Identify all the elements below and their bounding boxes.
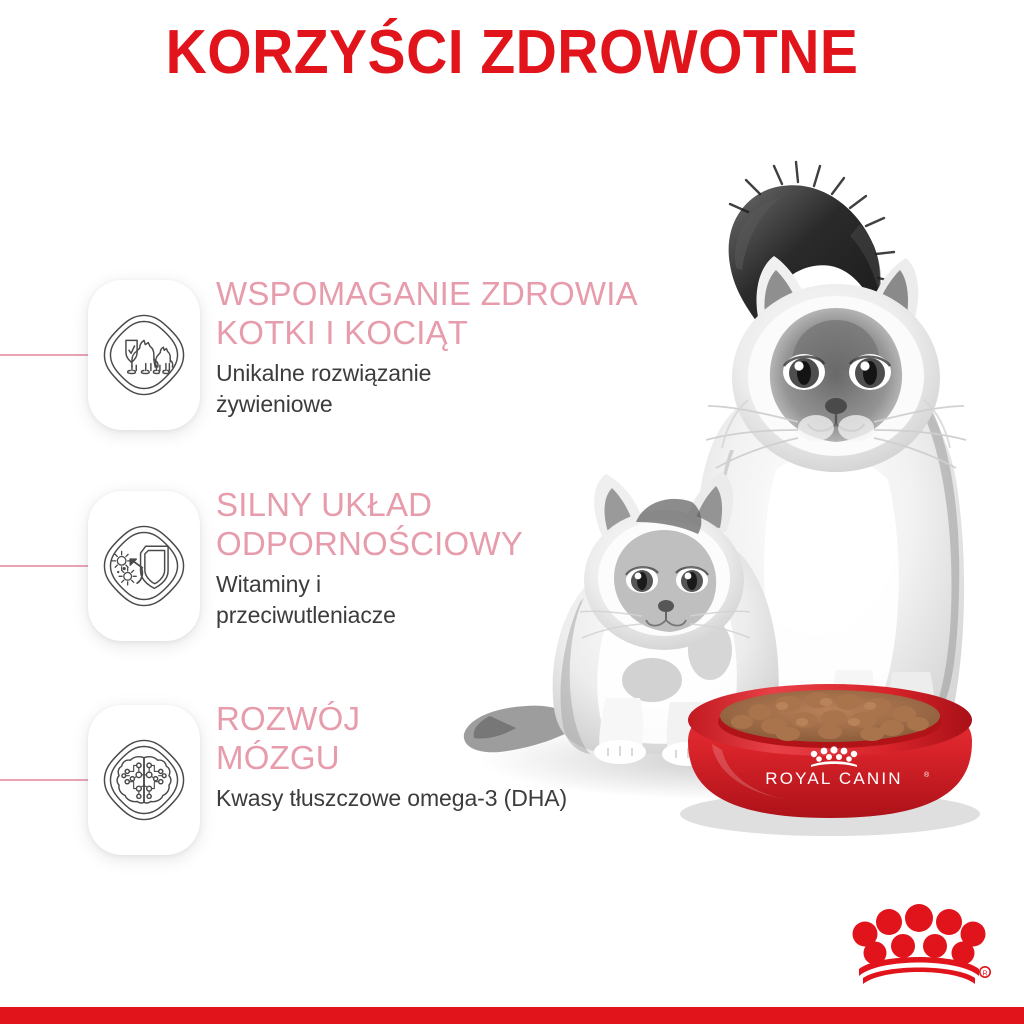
brain-circuit-icon <box>101 737 187 823</box>
svg-text:ROYAL CANIN: ROYAL CANIN <box>765 769 903 788</box>
connector-line <box>0 354 95 356</box>
benefit-text-block: SILNY UKŁAD ODPORNOŚCIOWY Witaminy i prz… <box>216 486 646 630</box>
benefit-icon-card <box>88 491 200 641</box>
connector-line <box>0 779 95 781</box>
benefit-item-1: WSPOMAGANIE ZDROWIA KOTKI I KOCIĄT Unika… <box>0 275 660 455</box>
benefit-heading: ROZWÓJ MÓZGU <box>216 700 646 777</box>
benefit-item-3: ROZWÓJ MÓZGU Kwasy tłuszczowe omega-3 (D… <box>0 700 660 880</box>
benefit-item-2: SILNY UKŁAD ODPORNOŚCIOWY Witaminy i prz… <box>0 486 660 666</box>
benefit-heading: WSPOMAGANIE ZDROWIA KOTKI I KOCIĄT <box>216 275 646 352</box>
royal-canin-crown-logo: R <box>845 898 995 984</box>
promo-banner: KORZYŚCI ZDROWOTNE <box>0 0 1024 1024</box>
benefit-text-block: ROZWÓJ MÓZGU Kwasy tłuszczowe omega-3 (D… <box>216 700 646 814</box>
connector-line <box>0 565 95 567</box>
immunity-shield-germs-icon <box>101 523 187 609</box>
benefit-subtext: Witaminy i przeciwutleniacze <box>216 569 646 630</box>
page-title: KORZYŚCI ZDROWOTNE <box>41 22 983 84</box>
benefit-icon-card <box>88 705 200 855</box>
benefit-subtext: Unikalne rozwiązanie żywieniowe <box>216 358 646 419</box>
svg-text:®: ® <box>924 771 930 779</box>
registered-mark: R <box>982 970 987 977</box>
bottom-red-bar <box>0 1007 1024 1024</box>
benefit-subtext: Kwasy tłuszczowe omega-3 (DHA) <box>216 783 646 814</box>
benefit-icon-card <box>88 280 200 430</box>
cat-and-kitten-shield-icon <box>101 312 187 398</box>
benefit-heading: SILNY UKŁAD ODPORNOŚCIOWY <box>216 486 646 563</box>
benefit-text-block: WSPOMAGANIE ZDROWIA KOTKI I KOCIĄT Unika… <box>216 275 646 419</box>
